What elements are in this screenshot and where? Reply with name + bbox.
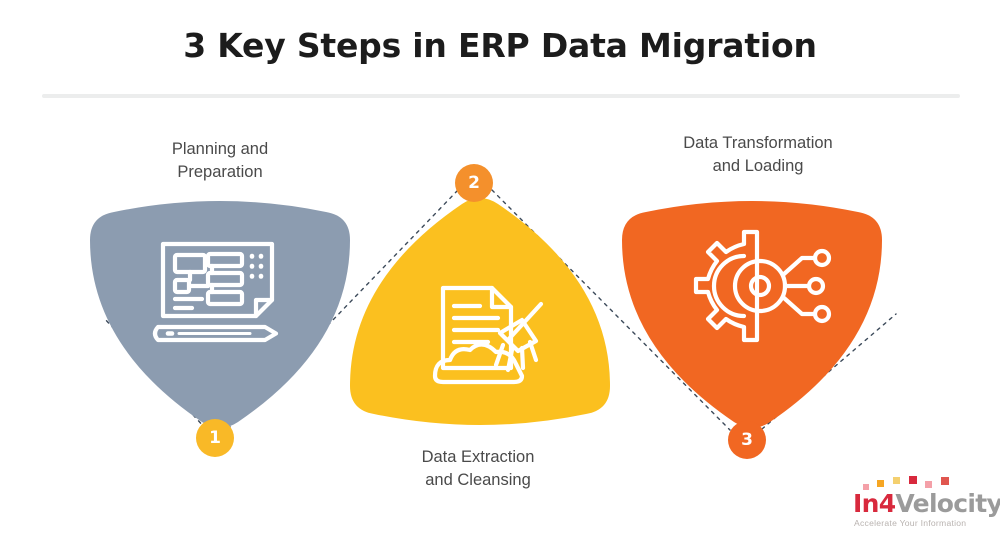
step-2-group[interactable] <box>340 190 620 430</box>
logo-name-primary: In4 <box>853 489 895 518</box>
step-1-wedge[interactable] <box>80 196 360 436</box>
step-3-badge[interactable]: 3 <box>728 421 766 459</box>
page-title: 3 Key Steps in ERP Data Migration <box>0 26 1000 65</box>
logo-name-secondary: Velocity <box>895 489 1000 518</box>
step-2-wedge[interactable] <box>340 190 620 430</box>
company-logo[interactable]: In4Velocity Accelerate Your Information <box>853 476 985 534</box>
step-3-label: Data Transformation and Loading <box>638 132 878 178</box>
step-3-wedge[interactable] <box>612 196 892 436</box>
step-2-label: Data Extraction and Cleansing <box>368 446 588 492</box>
step-1-label: Planning and Preparation <box>110 138 330 184</box>
title-divider <box>42 94 960 98</box>
infographic-canvas: 3 Key Steps in ERP Data Migration <box>0 0 1000 558</box>
logo-tagline: Accelerate Your Information <box>854 518 966 528</box>
step-2-badge[interactable]: 2 <box>455 164 493 202</box>
step-1-badge[interactable]: 1 <box>196 419 234 457</box>
step-3-group[interactable] <box>612 196 892 436</box>
step-1-group[interactable] <box>80 196 360 436</box>
logo-wordmark: In4Velocity <box>853 489 1000 518</box>
